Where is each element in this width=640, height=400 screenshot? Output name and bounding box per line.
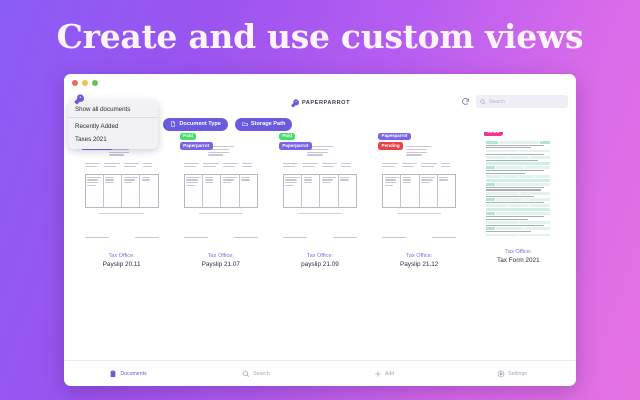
tag-list: Paperparrot Pending <box>378 133 411 150</box>
document-caption: Tax Office: Tax Form 2021 <box>497 248 540 265</box>
nav-label: Documents <box>120 371 146 377</box>
document-title: Payslip 20.11 <box>103 260 141 269</box>
window-titlebar <box>64 74 576 91</box>
settings-icon <box>497 370 505 378</box>
close-button[interactable] <box>72 80 78 86</box>
document-thumbnail[interactable]: Paid Paperparrot <box>179 132 263 244</box>
document-thumbnail[interactable]: To Do <box>484 132 552 240</box>
document-thumbnail[interactable]: Paid Paperparrot <box>278 132 362 244</box>
document-correspondent: Tax Office: <box>400 252 438 260</box>
bottom-navigation: Documents Search Add Settings <box>64 360 576 386</box>
document-correspondent: Tax Office: <box>497 248 540 256</box>
document-card[interactable]: Paid Paperparrot <box>179 132 263 269</box>
status-badge: To Do <box>484 132 502 136</box>
nav-item-documents[interactable]: Documents <box>64 370 192 378</box>
nav-label: Add <box>385 371 394 377</box>
status-badge: Pending <box>378 142 403 149</box>
filter-pill-storage-path[interactable]: Storage Path <box>235 118 293 131</box>
filter-pill-document-type[interactable]: Document Type <box>163 118 228 131</box>
search-placeholder: Search <box>489 99 505 105</box>
nav-label: Settings <box>508 371 527 377</box>
tag-list: Paid Paperparrot <box>279 133 312 150</box>
document-correspondent: Tax Office: <box>301 252 339 260</box>
document-caption: Tax Office: Payslip 21.12 <box>400 252 438 269</box>
document-caption: Tax Office: payslip 21.09 <box>301 252 339 269</box>
plus-icon <box>374 370 382 378</box>
document-title: payslip 21.09 <box>301 260 339 269</box>
tag-list: To Do <box>484 132 502 136</box>
document-caption: Tax Office: Payslip 21.07 <box>202 252 240 269</box>
status-badge: Paperparrot <box>279 142 312 149</box>
brand: PAPERPARROT <box>290 98 350 108</box>
zoom-button[interactable] <box>92 80 98 86</box>
document-title: Payslip 21.12 <box>400 260 438 269</box>
document-card[interactable]: Paperparrot Pending <box>377 132 461 269</box>
menu-separator <box>68 117 158 118</box>
brand-name: PAPERPARROT <box>302 100 350 106</box>
menu-item-taxes-2021[interactable]: Taxes 2021 <box>68 133 158 146</box>
search-icon <box>480 99 486 105</box>
search-input[interactable]: Search <box>476 95 568 108</box>
documents-grid: Paid Paperparrot <box>64 132 576 269</box>
filter-pill-label: Storage Path <box>251 121 286 127</box>
promo-banner: Create and use custom views <box>0 0 640 72</box>
filter-pill-label: Document Type <box>179 121 221 127</box>
document-thumbnail[interactable]: Paperparrot Pending <box>377 132 461 244</box>
status-badge: Paid <box>279 133 295 140</box>
menu-item-recently-added[interactable]: Recently Added <box>68 119 158 132</box>
page-title: Create and use custom views <box>57 17 584 56</box>
status-badge: Paperparrot <box>180 142 213 149</box>
document-title: Tax Form 2021 <box>497 256 540 265</box>
document-card[interactable]: Paid Paperparrot <box>278 132 362 269</box>
status-badge: Paid <box>180 133 196 140</box>
document-title: Payslip 21.07 <box>202 260 240 269</box>
search-icon <box>242 370 250 378</box>
header-actions: Search <box>461 95 568 108</box>
document-card[interactable]: To Do <box>476 132 560 265</box>
status-badge: Paperparrot <box>378 133 411 140</box>
nav-label: Search <box>253 371 269 377</box>
parrot-icon[interactable] <box>73 93 84 105</box>
nav-item-search[interactable]: Search <box>192 370 320 378</box>
refresh-icon[interactable] <box>461 97 470 106</box>
minimize-button[interactable] <box>82 80 88 86</box>
tag-list: Paid Paperparrot <box>180 133 213 150</box>
file-icon <box>170 121 176 127</box>
parrot-logo-icon <box>290 98 299 108</box>
document-correspondent: Tax Office: <box>202 252 240 260</box>
folder-icon <box>242 121 248 127</box>
documents-icon <box>109 370 117 378</box>
app-window: PAPERPARROT Search Document <box>64 74 576 386</box>
taxform-preview <box>484 132 552 240</box>
nav-item-settings[interactable]: Settings <box>448 370 576 378</box>
nav-item-add[interactable]: Add <box>320 370 448 378</box>
document-correspondent: Tax Office: <box>103 252 141 260</box>
menu-item-show-all-documents[interactable]: Show all documents <box>68 103 158 116</box>
views-dropdown-menu: Show all documents Recently Added Taxes … <box>68 100 158 149</box>
document-caption: Tax Office: Payslip 20.11 <box>103 252 141 269</box>
document-card[interactable]: Paid Paperparrot <box>80 132 164 269</box>
